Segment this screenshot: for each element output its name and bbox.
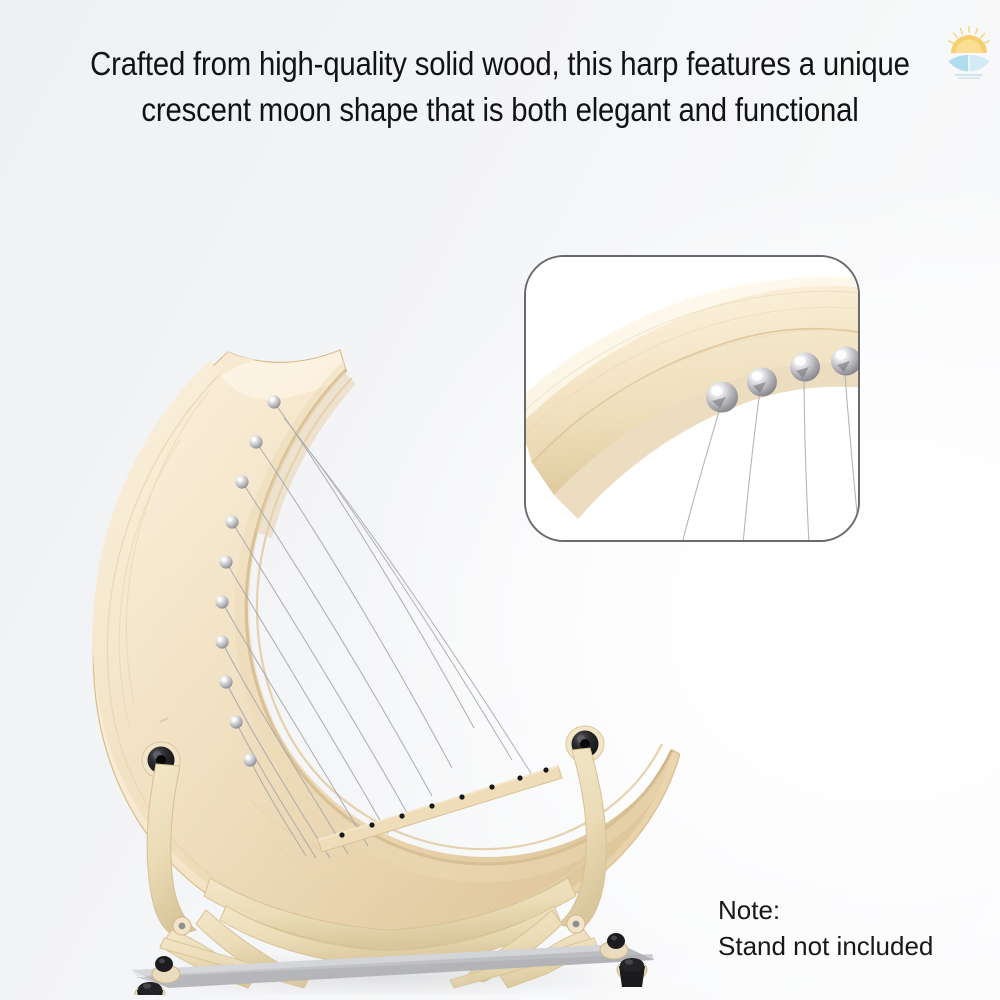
note-label: Note: (718, 892, 933, 928)
crescent-harp-illustration (60, 330, 680, 995)
note-text: Stand not included (718, 928, 933, 964)
brand-logo (942, 24, 996, 80)
product-marketing-image: Crafted from high-quality solid wood, th… (0, 0, 1000, 1000)
page-title: Crafted from high-quality solid wood, th… (63, 42, 938, 134)
product-photo (60, 330, 680, 995)
note-block: Note: Stand not included (718, 892, 933, 964)
sunrise-book-logo-icon (942, 24, 996, 80)
